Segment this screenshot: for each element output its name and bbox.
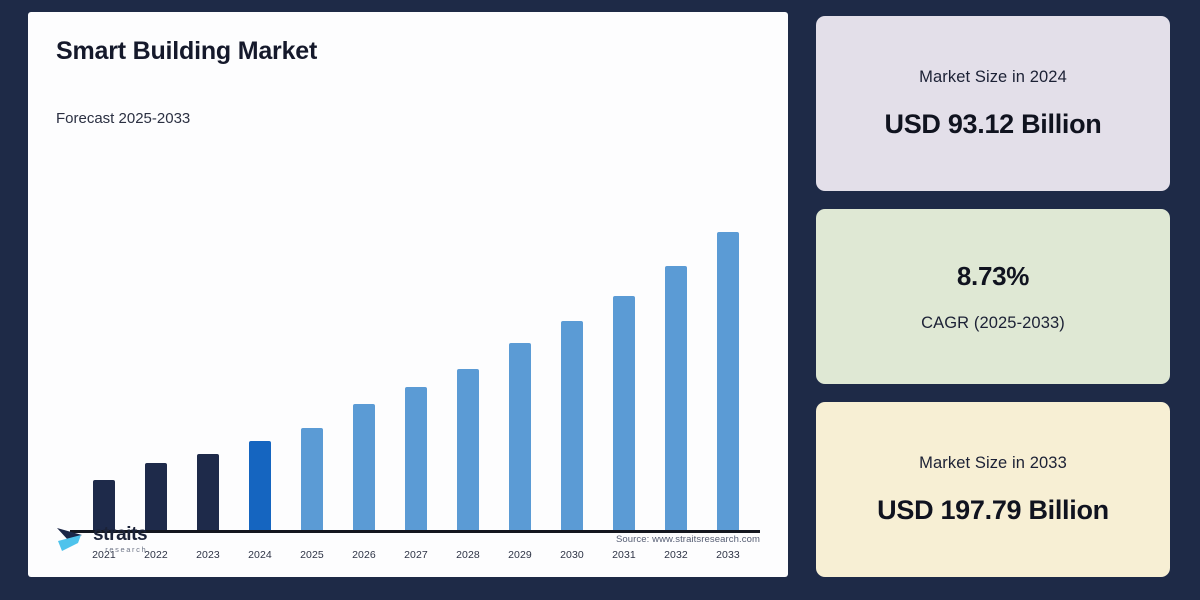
stat-card-value: 8.73% [957, 261, 1029, 292]
chart-subtitle: Forecast 2025-2033 [56, 66, 760, 127]
bar-slot [442, 232, 494, 532]
bar-slot [182, 232, 234, 532]
stat-card-label: CAGR (2025-2033) [921, 314, 1065, 333]
page-title: Smart Building Market [56, 38, 760, 66]
bar-2025 [301, 428, 323, 532]
stat-card-cagr: 8.73% CAGR (2025-2033) [816, 209, 1170, 384]
stat-card-market-size-2024: Market Size in 2024 USD 93.12 Billion [816, 16, 1170, 191]
bar-slot [286, 232, 338, 532]
bar-series [78, 232, 754, 532]
bar-slot [494, 232, 546, 532]
bar-slot [130, 232, 182, 532]
stat-card-label: Market Size in 2033 [919, 454, 1067, 473]
chart-card: Smart Building Market Forecast 2025-2033… [28, 12, 788, 577]
bar-slot [234, 232, 286, 532]
bar-2032 [665, 266, 687, 532]
bar-2030 [561, 321, 583, 532]
bar-2028 [457, 369, 479, 532]
logo-subword: research [93, 544, 147, 554]
bar-slot [650, 232, 702, 532]
straits-research-logo: straits research [56, 523, 147, 555]
bar-slot [390, 232, 442, 532]
bar-2027 [405, 387, 427, 532]
chart-footer: straits research Source: www.straitsrese… [56, 523, 760, 555]
stat-card-label: Market Size in 2024 [919, 68, 1067, 87]
bar-2031 [613, 296, 635, 532]
bar-slot [338, 232, 390, 532]
infographic-root: Smart Building Market Forecast 2025-2033… [0, 0, 1200, 600]
logo-wordmark: straits research [93, 525, 147, 554]
stat-card-market-size-2033: Market Size in 2033 USD 197.79 Billion [816, 402, 1170, 577]
stat-card-value: USD 197.79 Billion [877, 495, 1109, 526]
bar-2029 [509, 343, 531, 532]
chart-plot-area: 2021202220232024202520262027202820292030… [56, 141, 760, 578]
bar-2023 [197, 454, 219, 532]
bar-2033 [717, 232, 739, 532]
bar-slot [702, 232, 754, 532]
source-note: Source: www.straitsresearch.com [616, 534, 760, 545]
arrow-logo-icon [56, 523, 86, 555]
bar-2024 [249, 441, 271, 532]
bar-2022 [145, 463, 167, 532]
bar-slot [546, 232, 598, 532]
bar-2026 [353, 404, 375, 532]
bar-slot [78, 232, 130, 532]
stat-cards-column: Market Size in 2024 USD 93.12 Billion 8.… [816, 12, 1170, 577]
bar-slot [598, 232, 650, 532]
stat-card-value: USD 93.12 Billion [885, 109, 1102, 140]
logo-word: straits [93, 525, 147, 544]
